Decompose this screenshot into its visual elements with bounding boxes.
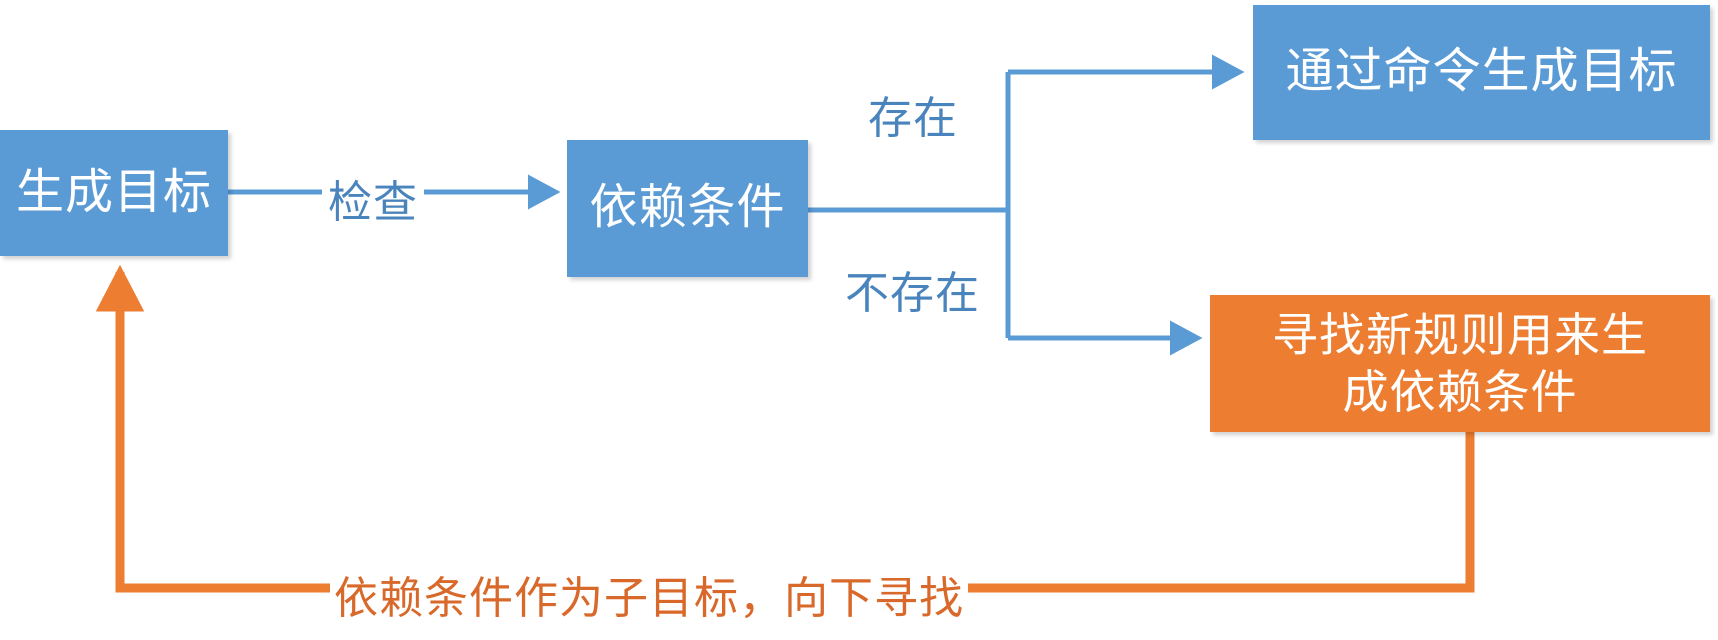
node-generate-goal-by-command-label: 通过命令生成目标 [1285,43,1677,102]
node-dependency-condition-label: 依赖条件 [589,179,785,238]
node-generate-goal-label: 生成目标 [16,164,212,223]
node-dependency-condition[interactable]: 依赖条件 [567,140,808,277]
edge-label-exists: 存在 [868,82,958,146]
node-find-new-rule[interactable]: 寻找新规则用来生 成依赖条件 [1210,295,1710,432]
edge-label-not-exists: 不存在 [845,257,980,321]
node-find-new-rule-label: 寻找新规则用来生 成依赖条件 [1272,307,1648,419]
node-generate-goal[interactable]: 生成目标 [0,130,228,256]
node-find-new-rule-line1: 寻找新规则用来生 [1272,309,1648,361]
node-find-new-rule-line2: 成依赖条件 [1343,366,1578,418]
edge-label-subgoal-loop: 依赖条件作为子目标，向下寻找 [330,562,968,626]
edge-label-check: 检查 [322,166,424,230]
flowchart-canvas: 生成目标 依赖条件 通过命令生成目标 寻找新规则用来生 成依赖条件 检查 存在 … [0,0,1718,640]
node-generate-goal-by-command[interactable]: 通过命令生成目标 [1253,5,1710,140]
